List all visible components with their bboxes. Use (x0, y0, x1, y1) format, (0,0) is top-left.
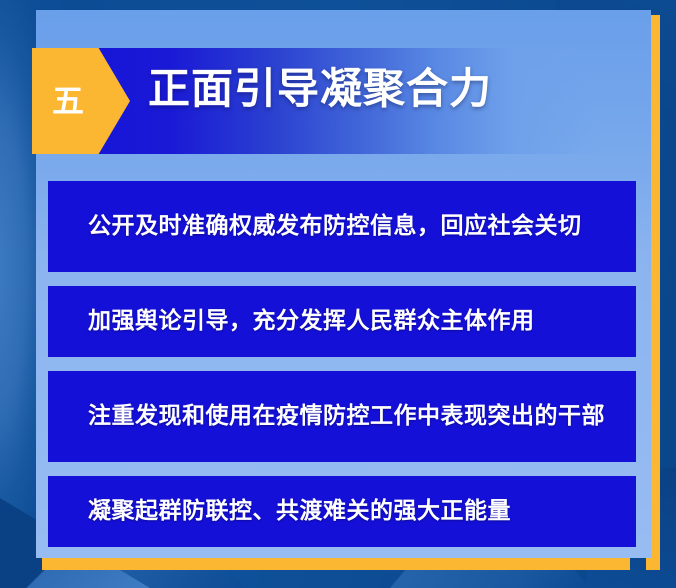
list-item-text: 凝聚起群防联控、共渡难关的强大正能量 (88, 495, 511, 528)
list-item: 凝聚起群防联控、共渡难关的强大正能量 (48, 476, 636, 547)
list-item-text: 注重发现和使用在疫情防控工作中表现突出的干部 (88, 400, 605, 433)
poster-canvas: 五 正面引导凝聚合力 公开及时准确权威发布防控信息，回应社会关切 加强舆论引导，… (0, 0, 676, 588)
list-item: 注重发现和使用在疫情防控工作中表现突出的干部 (48, 371, 636, 462)
list-item: 加强舆论引导，充分发挥人民群众主体作用 (48, 286, 636, 357)
list-item: 公开及时准确权威发布防控信息，回应社会关切 (48, 181, 636, 272)
list-item-text: 加强舆论引导，充分发挥人民群众主体作用 (88, 305, 535, 338)
list-item-text: 公开及时准确权威发布防控信息，回应社会关切 (88, 210, 582, 243)
item-list: 公开及时准确权威发布防控信息，回应社会关切 加强舆论引导，充分发挥人民群众主体作… (48, 181, 636, 561)
page-title: 正面引导凝聚合力 (148, 66, 492, 112)
section-number-label: 五 (52, 85, 84, 117)
